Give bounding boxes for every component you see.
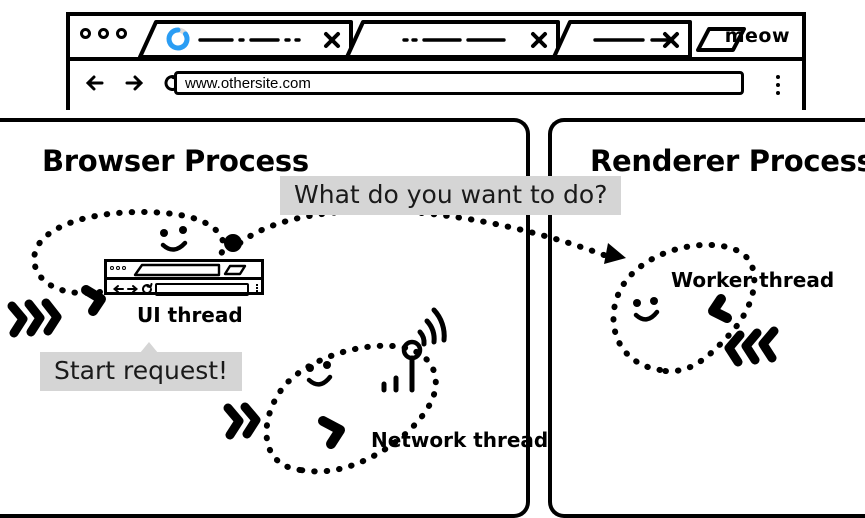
network-thread-label: Network thread [371, 428, 548, 452]
worker-motion-chevron-1 [763, 331, 774, 358]
ui-thread-tail-arrow [86, 290, 101, 311]
antenna-wifi-icon [384, 310, 444, 390]
message-arrowhead [604, 243, 626, 264]
ui-thread-label: UI thread [137, 303, 243, 327]
ui-motion-chevron-1 [12, 306, 23, 333]
ui-motion-chevron-3 [46, 303, 57, 331]
message-origin-dot [224, 234, 242, 252]
mini-browser-icon [104, 259, 264, 295]
worker-motion-chevron-2 [746, 333, 757, 360]
worker-motion-chevron-3 [729, 335, 740, 362]
network-thread-tail-arrow [323, 421, 340, 444]
ui-motion-chevron-2 [29, 304, 40, 332]
worker-thread-tail-arrow [713, 299, 727, 318]
question-callout-text: What do you want to do? [294, 180, 607, 209]
question-callout: What do you want to do? [280, 176, 621, 215]
net-motion-chevron-2 [245, 407, 256, 434]
network-thread-face [306, 361, 331, 384]
worker-thread-label: Worker thread [671, 268, 834, 292]
message-arrow-path [240, 211, 612, 258]
worker-thread-face [633, 297, 658, 319]
callout-tail [140, 342, 158, 353]
diagram-canvas: meow [0, 0, 865, 504]
start-request-callout-text: Start request! [54, 356, 228, 385]
ui-thread-face [160, 226, 187, 250]
net-motion-chevron-1 [228, 408, 239, 435]
start-request-callout: Start request! [40, 352, 242, 391]
